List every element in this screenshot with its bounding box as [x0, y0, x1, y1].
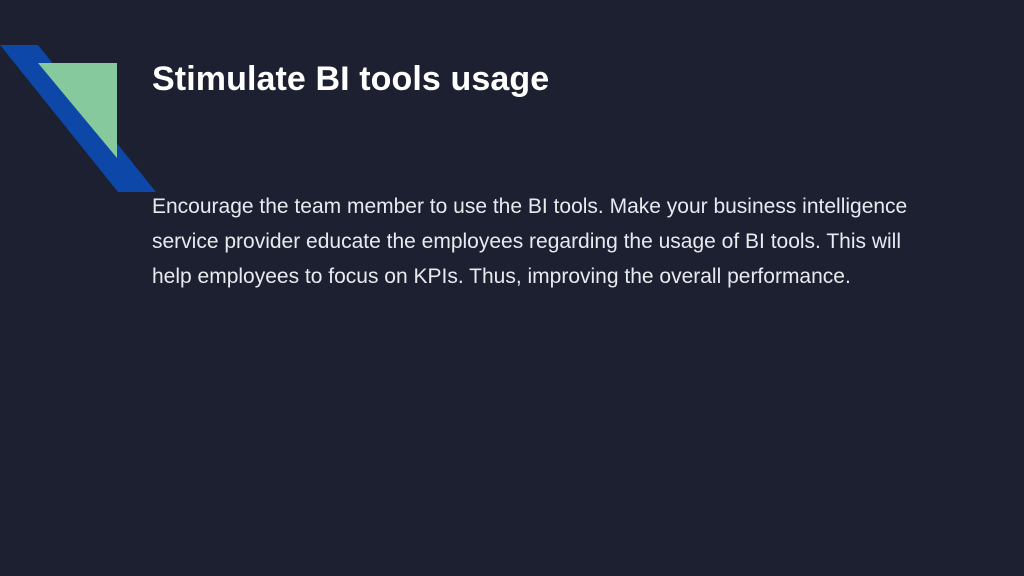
blue-parallelogram-shape	[0, 45, 156, 192]
green-parallelogram-shape	[38, 63, 117, 158]
page-title: Stimulate BI tools usage	[152, 57, 549, 101]
body-paragraph: Encourage the team member to use the BI …	[152, 189, 934, 294]
slide-canvas: Stimulate BI tools usage Encourage the t…	[0, 0, 1024, 576]
